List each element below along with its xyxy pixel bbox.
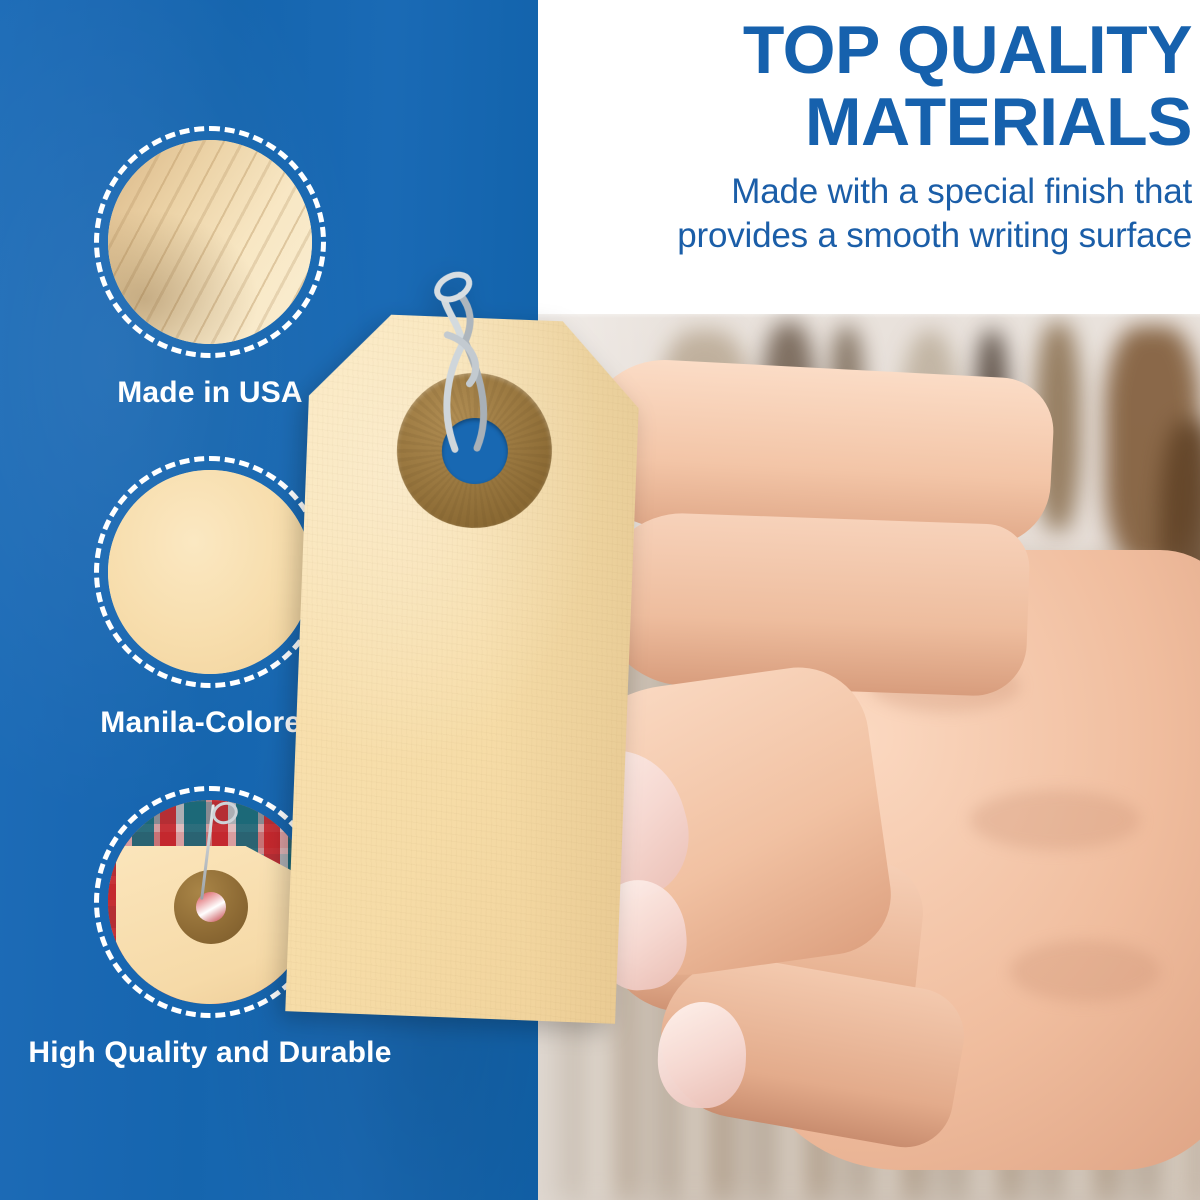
tag-wire-icon xyxy=(403,255,531,459)
knuckle-shadow xyxy=(970,790,1140,850)
headline-line-1: TOP QUALITY xyxy=(556,14,1192,86)
product-infographic-canvas: Made in USA Manila-Colored High Quality … xyxy=(0,0,1200,1200)
header-text-block: TOP QUALITY MATERIALS Made with a specia… xyxy=(556,14,1192,258)
feature-circle xyxy=(94,456,326,688)
hero-manila-tag xyxy=(285,312,642,1024)
headline-line-2: MATERIALS xyxy=(556,86,1192,158)
feature-circle xyxy=(94,126,326,358)
knuckle-shadow xyxy=(1010,940,1160,1002)
dashed-ring-icon xyxy=(94,456,326,688)
subhead-line-2: provides a smooth writing surface xyxy=(556,214,1192,258)
dashed-ring-icon xyxy=(94,126,326,358)
feature-label: High Quality and Durable xyxy=(0,1034,420,1072)
subhead-line-1: Made with a special finish that xyxy=(556,170,1192,214)
